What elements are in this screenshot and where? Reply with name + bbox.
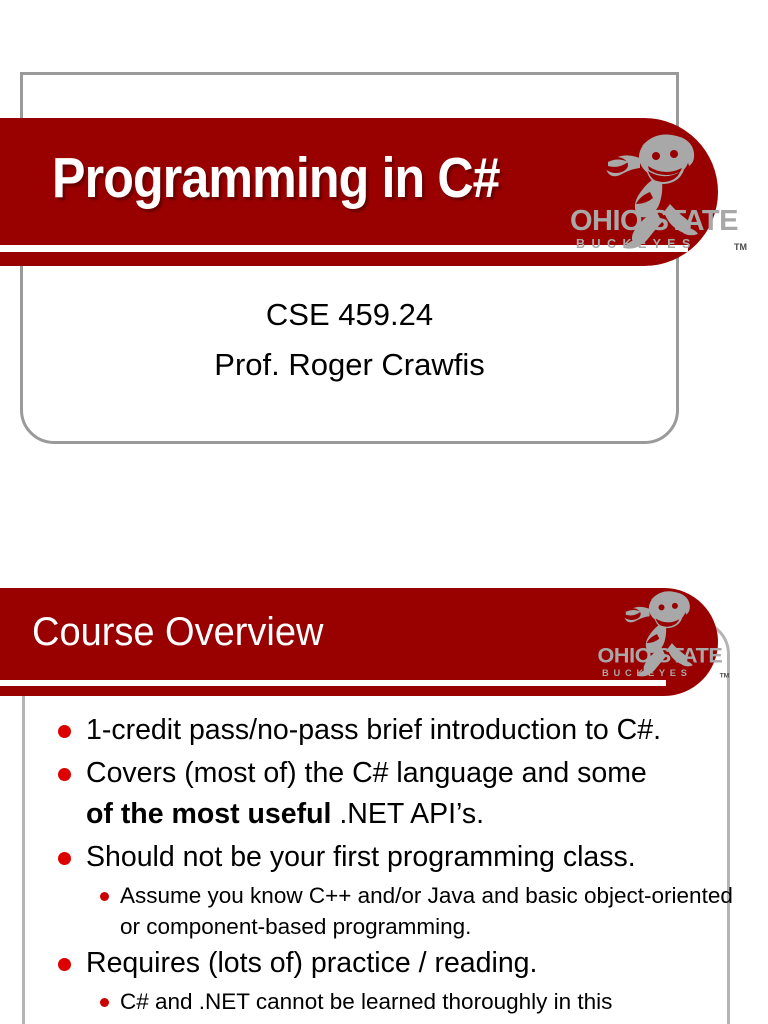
slide1-subtitle-line-2: Prof. Roger Crawfis: [20, 340, 679, 390]
bullet-text: Should not be your first programming cla…: [86, 841, 636, 873]
logo-wordmark-buckeyes: B U C K E Y E S: [602, 668, 688, 678]
slide-deck-page: Programming in C#: [0, 0, 768, 1024]
bullet-item: Covers (most of) the C# language and som…: [48, 753, 738, 835]
slide2-bullet-list: 1-credit pass/no-pass brief introduction…: [48, 710, 738, 1018]
logo-trademark-symbol: TM: [734, 242, 747, 252]
bullet-item: Requires (lots of) practice / reading.: [48, 943, 738, 984]
brutus-buckeye-logo-icon: OHIO STATE B U C K E Y E S TM: [596, 588, 730, 684]
bullet-text-tail: .NET API’s.: [331, 798, 484, 830]
bullet-text-emphasis: of the most useful: [86, 798, 331, 830]
slide2-title: Course Overview: [32, 610, 323, 655]
slide-title-slide: Programming in C#: [0, 0, 768, 560]
logo-wordmark-ohio-state: OHIO STATE: [597, 642, 722, 667]
brutus-buckeye-logo-icon: OHIO STATE OHIO STATE B U C K E Y E S TM: [568, 132, 748, 257]
slide2-banner-stripe: [0, 680, 666, 686]
sub-bullet-text: Assume you know C++ and/or Java and basi…: [120, 883, 733, 939]
bullet-item: 1-credit pass/no-pass brief introduction…: [48, 710, 738, 751]
slide1-subtitle-line-1: CSE 459.24: [20, 290, 679, 340]
slide1-subtitle-block: CSE 459.24 Prof. Roger Crawfis: [20, 290, 679, 390]
ohio-state-buckeyes-logo: OHIO STATE B U C K E Y E S TM: [596, 588, 730, 684]
bullet-item: Should not be your first programming cla…: [48, 837, 738, 878]
sub-bullet-item: C# and .NET cannot be learned thoroughly…: [48, 986, 738, 1017]
ohio-state-buckeyes-logo: OHIO STATE OHIO STATE B U C K E Y E S TM: [568, 132, 748, 257]
logo-wordmark-ohio-state: OHIO STATE: [570, 205, 738, 237]
bullet-text: Requires (lots of) practice / reading.: [86, 947, 537, 979]
logo-wordmark-buckeyes: B U C K E Y E S: [576, 237, 692, 251]
slide-course-overview: Course Overview: [0, 560, 768, 1024]
bullet-text: Covers (most of) the C# language and som…: [86, 757, 647, 789]
bullet-text: 1-credit pass/no-pass brief introduction…: [86, 714, 661, 746]
sub-bullet-text: C# and .NET cannot be learned thoroughly…: [120, 989, 612, 1014]
logo-trademark-symbol: TM: [720, 672, 730, 679]
sub-bullet-item: Assume you know C++ and/or Java and basi…: [48, 880, 738, 942]
slide1-title: Programming in C#: [52, 145, 500, 211]
